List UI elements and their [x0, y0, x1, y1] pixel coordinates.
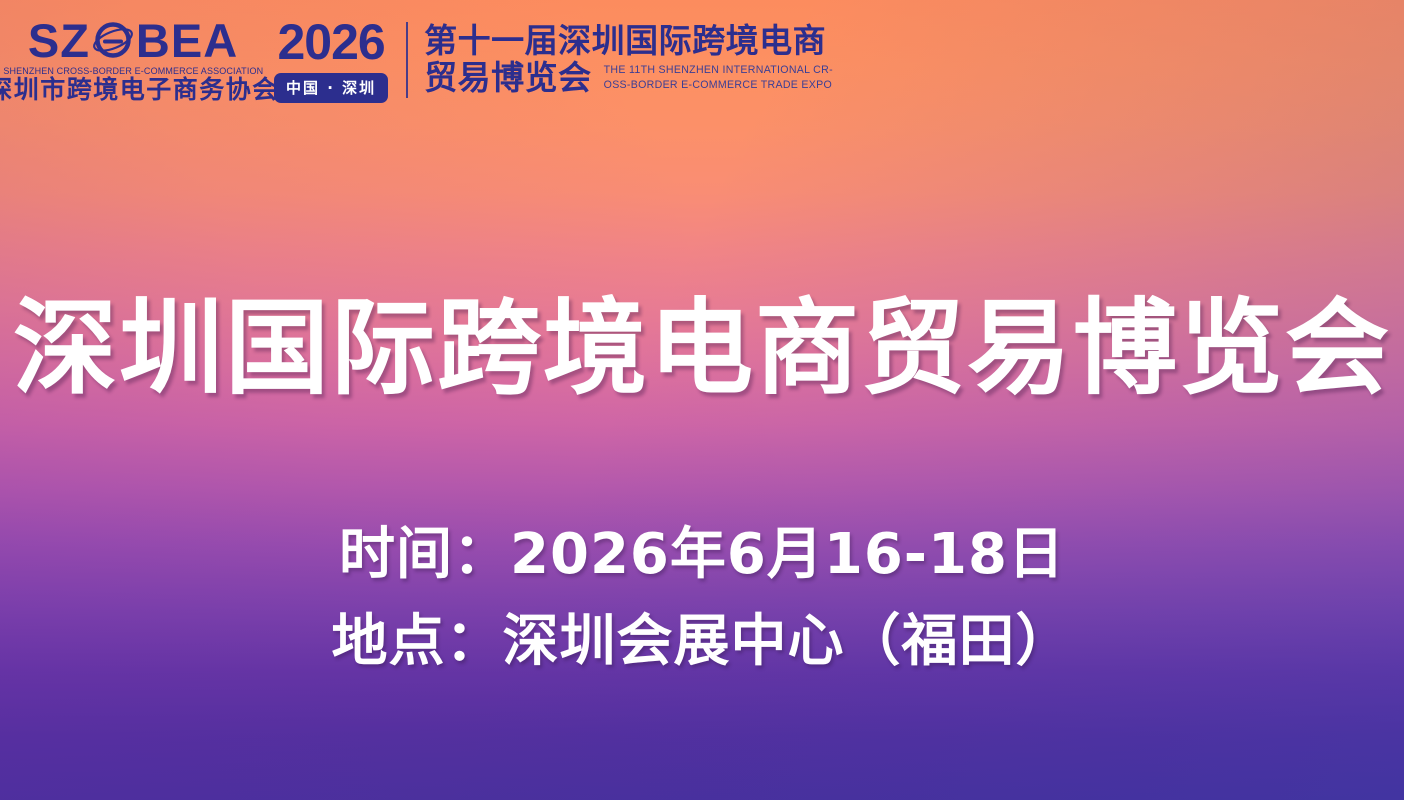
association-english-name: SHENZHEN CROSS-BORDER E-COMMERCE ASSOCIA… — [3, 66, 263, 76]
expo-title-line-1: 第十一届深圳国际跨境电商 — [424, 23, 833, 60]
expo-banner-poster: SZ BEA SHENZHEN CROSS-BORDER E-COMMERCE … — [0, 0, 1404, 800]
expo-title-line-2: 贸易博览会 — [424, 60, 592, 97]
header-divider — [406, 22, 408, 98]
event-date-line: 时间：2026年6月16-18日 — [0, 512, 1404, 599]
e-globe-icon — [91, 18, 135, 62]
expo-english-subtitle: THE 11TH SHENZHEN INTERNATIONAL CR- OSS-… — [604, 63, 833, 97]
year-block: 2026 中国 · 深圳 — [274, 17, 388, 103]
event-venue-line: 地点：深圳会展中心（福田） — [0, 599, 1404, 686]
expo-title-row-2: 贸易博览会 THE 11TH SHENZHEN INTERNATIONAL CR… — [424, 60, 833, 97]
year-location-badge: 中国 · 深圳 — [274, 73, 388, 103]
event-info-block: 时间：2026年6月16-18日 地点：深圳会展中心（福田） — [0, 512, 1404, 686]
expo-english-line-1: THE 11TH SHENZHEN INTERNATIONAL CR- — [604, 63, 833, 78]
expo-english-line-2: OSS-BORDER E-COMMERCE TRADE EXPO — [604, 78, 833, 93]
wordmark-right-text: BEA — [136, 17, 238, 64]
header-logo-lockup: SZ BEA SHENZHEN CROSS-BORDER E-COMMERCE … — [26, 16, 833, 103]
main-headline: 深圳国际跨境电商贸易博览会 — [0, 292, 1404, 404]
wordmark-left-text: SZ — [28, 17, 90, 64]
association-logo: SZ BEA SHENZHEN CROSS-BORDER E-COMMERCE … — [26, 16, 240, 103]
expo-title-block: 第十一届深圳国际跨境电商 贸易博览会 THE 11TH SHENZHEN INT… — [424, 23, 833, 97]
year-number: 2026 — [277, 17, 384, 67]
association-chinese-name: 深圳市跨境电子商务协会 — [0, 77, 279, 103]
association-wordmark: SZ BEA — [28, 16, 238, 64]
